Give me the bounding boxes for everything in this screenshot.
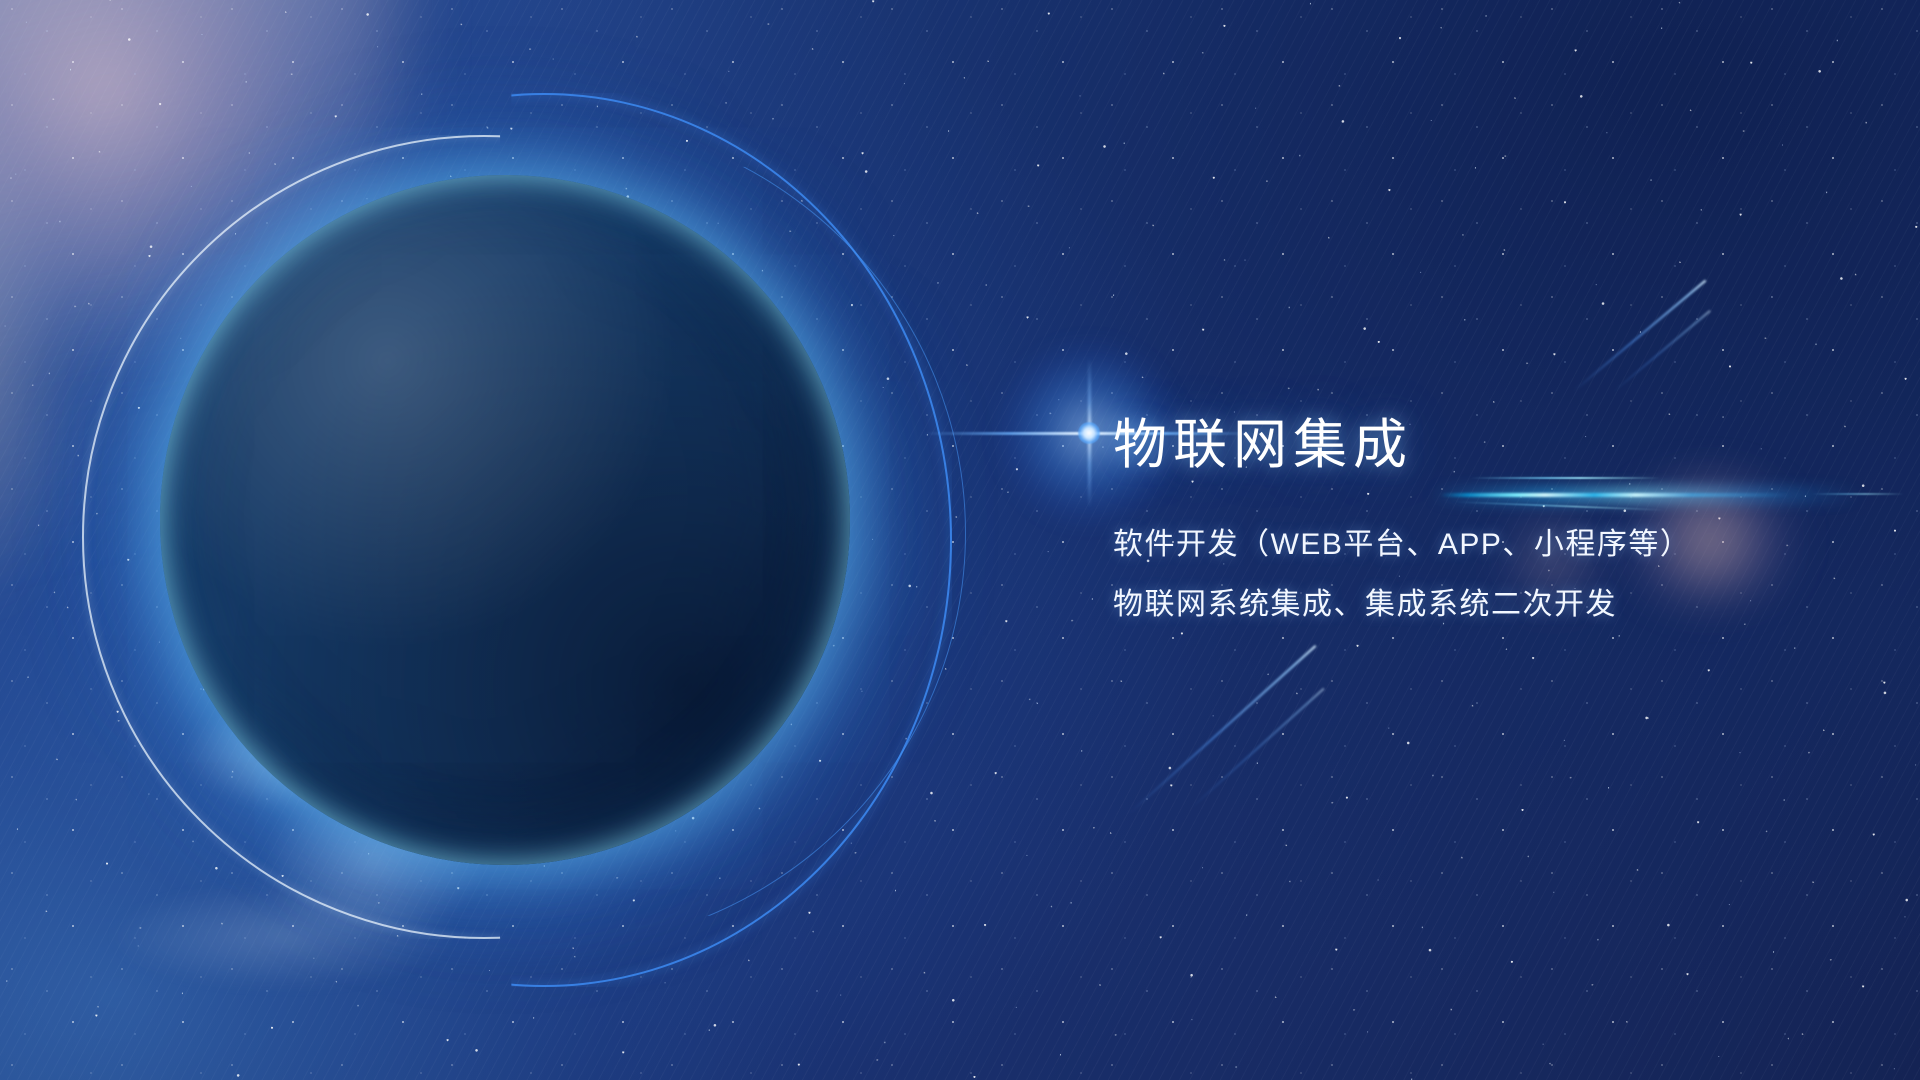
- banner-text-block: 物联网集成 软件开发（WEB平台、APP、小程序等） 物联网系统集成、集成系统二…: [1113, 418, 1873, 620]
- banner-subtitle-1: 软件开发（WEB平台、APP、小程序等）: [1113, 530, 1873, 560]
- hero-banner: 物联网集成 软件开发（WEB平台、APP、小程序等） 物联网系统集成、集成系统二…: [0, 0, 1920, 1080]
- earth-globe: [160, 175, 850, 865]
- banner-subtitle-2: 物联网系统集成、集成系统二次开发: [1113, 590, 1873, 620]
- page-title: 物联网集成: [1113, 418, 1873, 472]
